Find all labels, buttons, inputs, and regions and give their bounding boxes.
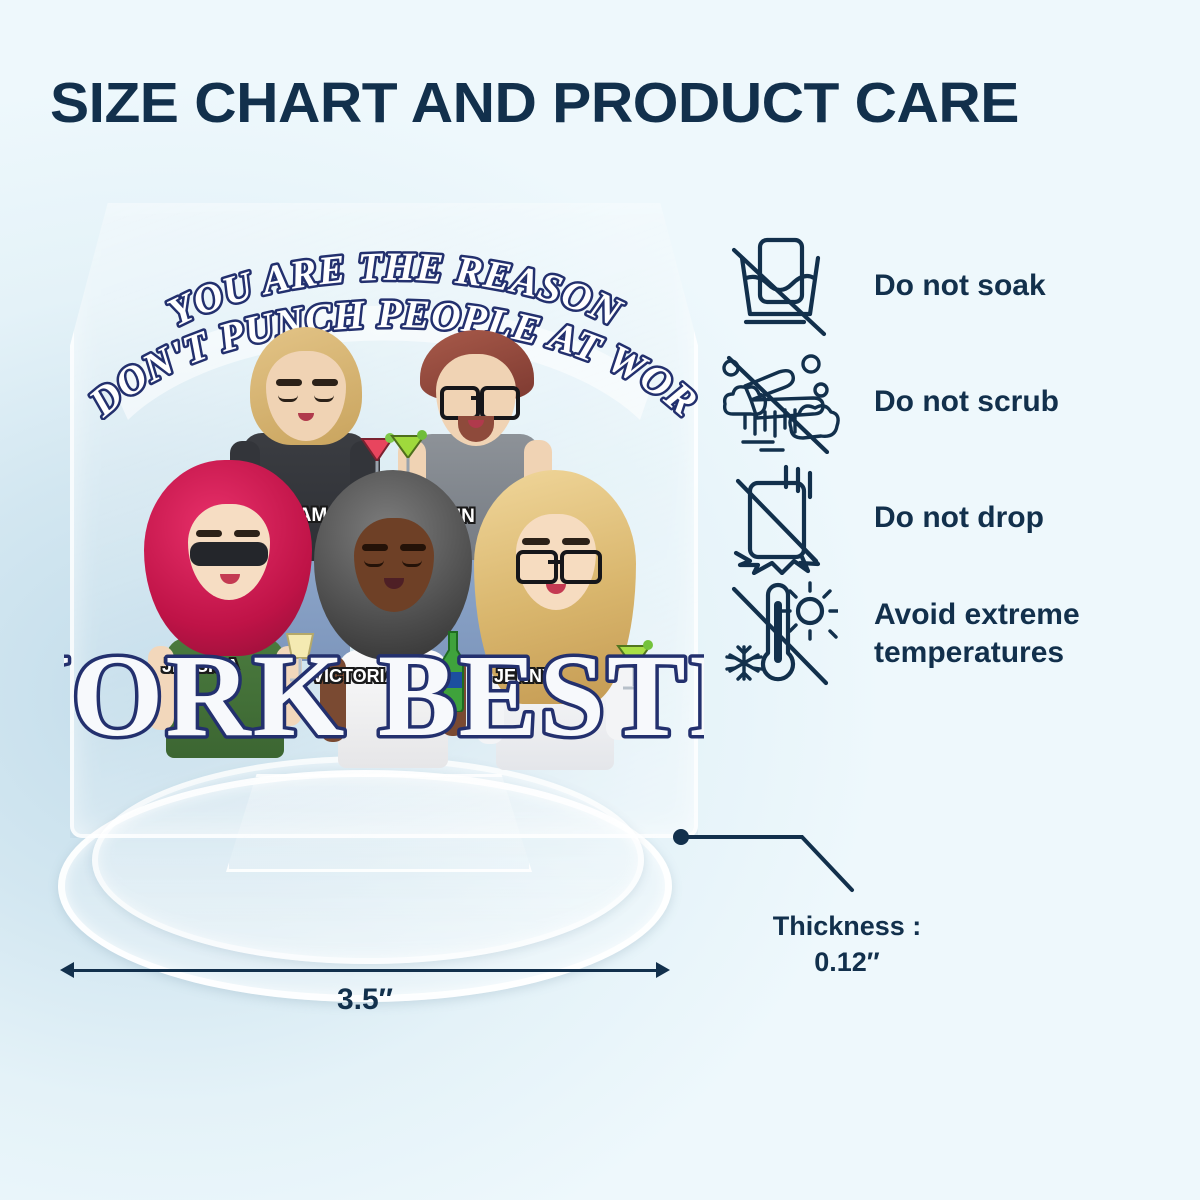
- jessica-sunglasses: [190, 542, 268, 566]
- care-label-do-not-soak: Do not soak: [860, 267, 1046, 305]
- jenny-brow-left: [522, 538, 550, 545]
- width-arrow-right: [656, 962, 670, 978]
- width-dimension-label: 3.5″: [60, 983, 670, 1017]
- jenny-margarita-glass: [612, 636, 656, 700]
- do-not-scrub-icon: [700, 350, 860, 454]
- william-brow-left: [276, 379, 302, 386]
- name-tag-jessica: JESSICA: [162, 656, 239, 677]
- victoria-brow-right: [400, 544, 426, 551]
- thickness-label-line2: 0.12″: [814, 947, 879, 977]
- john-glasses-right-lens: [480, 386, 520, 420]
- do-not-drop-icon: [700, 461, 860, 575]
- character-victoria: VICTORIA: [308, 470, 478, 770]
- product-illustration: YOU ARE THE REASON I DON'T PUNCH PEOPLE …: [40, 170, 720, 960]
- care-label-avoid-extreme-temperatures: Avoid extreme temperatures: [860, 596, 1170, 672]
- john-glasses-left-lens: [440, 386, 480, 420]
- jessica-brow-right: [234, 530, 260, 537]
- thickness-label-line1: Thickness :: [773, 911, 922, 941]
- character-jenny: JENNY: [468, 470, 643, 770]
- victoria-beer-bottle: [436, 630, 470, 712]
- thickness-dimension: Thickness : 0.12″: [672, 820, 1022, 990]
- care-label-do-not-drop: Do not drop: [860, 499, 1044, 537]
- care-item-avoid-extreme-temperatures: Avoid extreme temperatures: [700, 576, 1170, 692]
- jenny-brow-right: [562, 538, 590, 545]
- page-title: SIZE CHART AND PRODUCT CARE: [50, 72, 1193, 134]
- thickness-dimension-label: Thickness : 0.12″: [672, 908, 1022, 980]
- avoid-extreme-temperatures-icon: [700, 579, 860, 689]
- jessica-brow-left: [196, 530, 222, 537]
- name-tag-jenny: JENNY: [494, 666, 554, 687]
- width-dimension: 3.5″: [60, 955, 670, 1030]
- name-tag-victoria: VICTORIA: [312, 666, 398, 687]
- jenny-glasses-left-lens: [516, 550, 558, 584]
- victoria-brow-left: [362, 544, 388, 551]
- care-item-do-not-soak: Do not soak: [700, 228, 1170, 344]
- care-label-do-not-scrub: Do not scrub: [860, 383, 1059, 421]
- care-item-do-not-scrub: Do not scrub: [700, 344, 1170, 460]
- care-instructions-list: Do not soak: [700, 228, 1170, 692]
- jenny-glasses-right-lens: [560, 550, 602, 584]
- jenny-glasses-bridge: [548, 560, 562, 564]
- size-chart-product-care-page: SIZE CHART AND PRODUCT CARE YOU ARE THE …: [0, 0, 1200, 1200]
- thickness-leader-line: [672, 820, 1022, 920]
- john-glasses-bridge: [471, 396, 481, 400]
- width-dimension-line: [68, 969, 662, 972]
- care-item-do-not-drop: Do not drop: [700, 460, 1170, 576]
- william-brow-right: [312, 379, 338, 386]
- character-jessica: JESSICA: [140, 460, 315, 760]
- do-not-soak-icon: [700, 234, 860, 338]
